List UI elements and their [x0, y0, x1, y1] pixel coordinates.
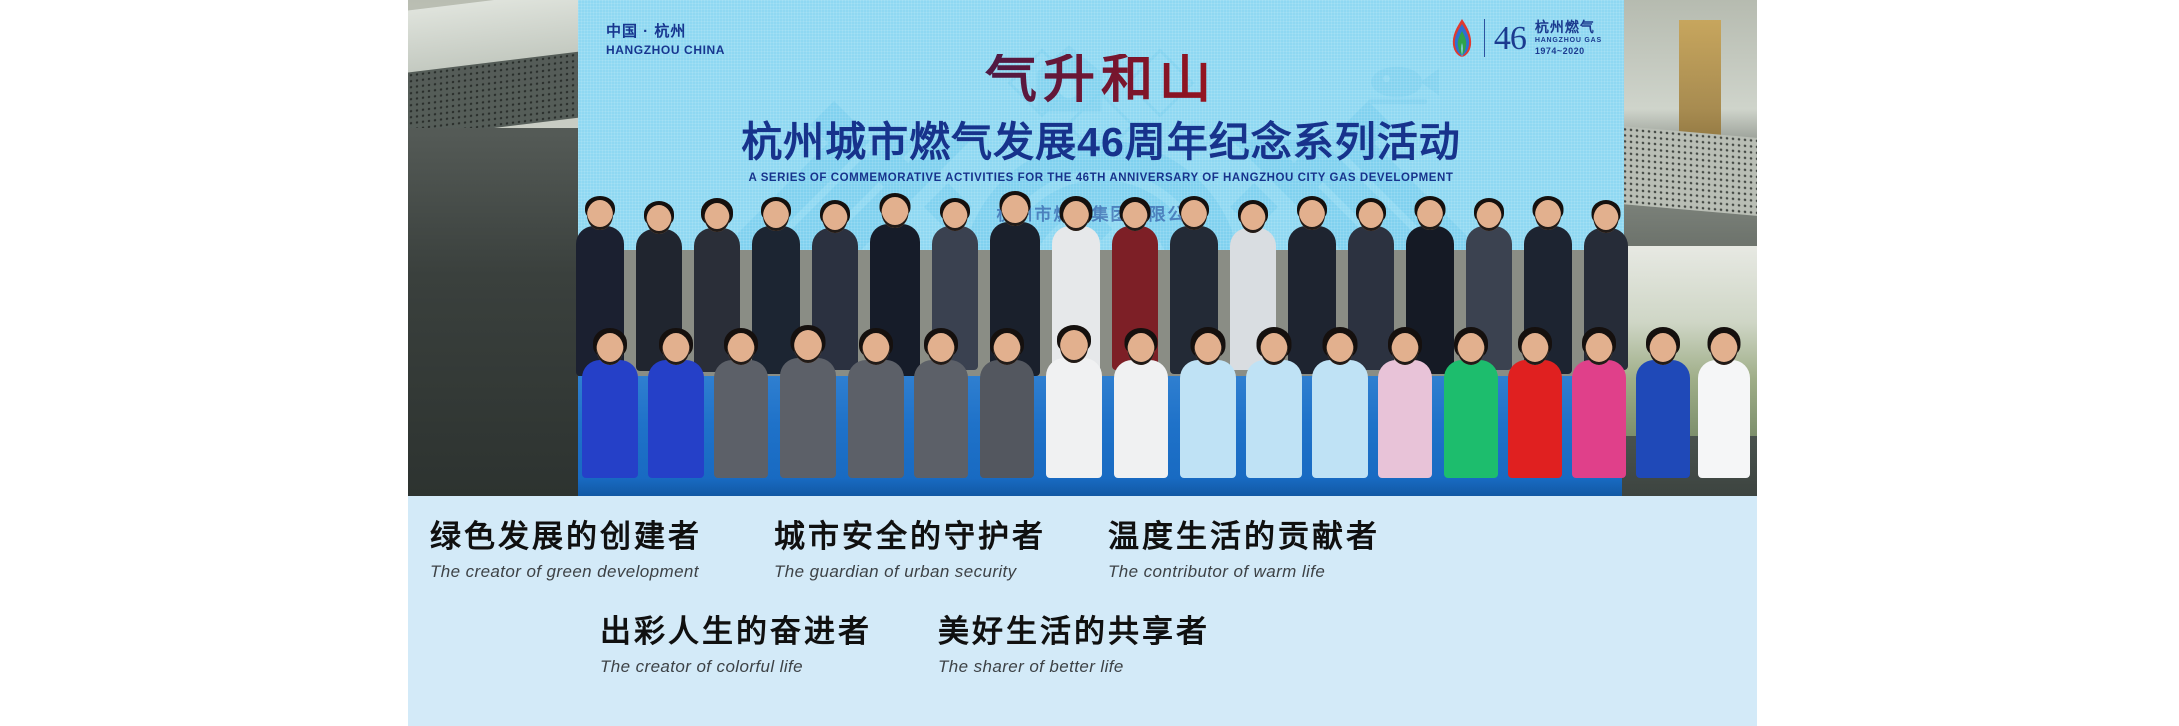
- head: [928, 333, 955, 365]
- company-name-cn: 杭州燃气: [1535, 19, 1602, 37]
- slogan-en: The contributor of warm life: [1108, 562, 1380, 582]
- hangzhou-gas-logo: 46 杭州燃气 HANGZHOU GAS 1974~2020: [1449, 18, 1602, 58]
- person: [1572, 360, 1626, 478]
- person: [1698, 360, 1750, 478]
- slogan-en: The sharer of better life: [938, 657, 1210, 677]
- slogan-en: The guardian of urban security: [774, 562, 1046, 582]
- head: [1063, 201, 1089, 231]
- person: [1180, 360, 1236, 478]
- slogan-en: The creator of colorful life: [600, 657, 872, 677]
- head: [705, 203, 730, 232]
- person: [1046, 358, 1102, 478]
- location-cn: 中国 · 杭州: [606, 22, 725, 42]
- head: [1392, 333, 1419, 365]
- slogan-cn: 绿色发展的创建者: [430, 520, 702, 556]
- head: [728, 333, 755, 365]
- head: [943, 202, 968, 231]
- head: [882, 197, 909, 228]
- flame-icon: [1449, 18, 1475, 58]
- slogan-colorful-life: 出彩人生的奋进者 The creator of colorful life: [600, 615, 872, 677]
- head: [1359, 202, 1384, 231]
- head: [597, 333, 624, 365]
- head: [1002, 195, 1029, 226]
- slogan-urban-security: 城市安全的守护者 The guardian of urban security: [774, 520, 1046, 582]
- person: [582, 360, 638, 478]
- person: [648, 360, 704, 478]
- head: [1261, 333, 1288, 365]
- person: [1312, 360, 1368, 478]
- head: [1195, 333, 1222, 365]
- head: [1060, 330, 1088, 363]
- person: [780, 358, 836, 478]
- person: [1114, 360, 1168, 478]
- slogan-better-life: 美好生活的共享者 The sharer of better life: [938, 615, 1210, 677]
- person: [980, 360, 1034, 478]
- led-location-label: 中国 · 杭州 HANGZHOU CHINA: [606, 22, 725, 58]
- person: [1444, 360, 1498, 478]
- head: [1594, 204, 1619, 233]
- person: [714, 360, 768, 478]
- person: [752, 226, 800, 374]
- head: [1535, 200, 1561, 230]
- crowd-of-people: [408, 166, 1757, 496]
- head: [1327, 333, 1354, 365]
- head: [1417, 200, 1443, 230]
- slogan-cn: 城市安全的守护者: [774, 520, 1046, 556]
- page-root: 中国 · 杭州 HANGZHOU CHINA 46 杭州燃气: [0, 0, 2179, 726]
- slogan-cn: 美好生活的共享者: [938, 615, 1210, 651]
- head: [647, 205, 672, 234]
- anniversary-number: 46: [1494, 22, 1526, 56]
- head: [823, 204, 848, 233]
- head: [587, 200, 613, 230]
- head: [1299, 200, 1325, 230]
- head: [794, 330, 822, 363]
- head: [1241, 204, 1266, 233]
- head: [1458, 333, 1485, 365]
- calligraphy-title: 气升和山: [578, 54, 1624, 106]
- person: [1636, 360, 1690, 478]
- head: [1123, 202, 1148, 231]
- head: [994, 333, 1021, 365]
- person: [1246, 360, 1302, 478]
- banner-main-title: 杭州城市燃气发展46周年纪念系列活动: [578, 120, 1624, 165]
- group-photo: 中国 · 杭州 HANGZHOU CHINA 46 杭州燃气: [408, 0, 1757, 496]
- person: [1508, 360, 1562, 478]
- slogan-green-development: 绿色发展的创建者 The creator of green developmen…: [430, 520, 702, 582]
- head: [863, 333, 890, 365]
- head: [1181, 200, 1207, 230]
- person: [848, 360, 904, 478]
- slogan-cn: 温度生活的贡献者: [1108, 520, 1380, 556]
- venue-door: [1679, 20, 1721, 150]
- slogans-panel: 绿色发展的创建者 The creator of green developmen…: [408, 496, 1757, 726]
- slogan-cn: 出彩人生的奋进者: [600, 615, 872, 651]
- head: [1128, 333, 1155, 365]
- slogan-en: The creator of green development: [430, 562, 702, 582]
- logo-brand-text: 杭州燃气 HANGZHOU GAS 1974~2020: [1535, 19, 1602, 57]
- head: [1522, 333, 1549, 365]
- poster-content: 中国 · 杭州 HANGZHOU CHINA 46 杭州燃气: [408, 0, 1757, 726]
- head: [1650, 333, 1677, 365]
- slogan-warm-life: 温度生活的贡献者 The contributor of warm life: [1108, 520, 1380, 582]
- head: [663, 333, 690, 365]
- logo-divider: [1484, 19, 1485, 57]
- head: [1711, 333, 1738, 365]
- company-name-en: HANGZHOU GAS: [1535, 37, 1602, 46]
- person: [914, 360, 968, 478]
- person: [1378, 360, 1432, 478]
- head: [763, 201, 789, 231]
- head: [1586, 333, 1613, 365]
- head: [1477, 202, 1502, 231]
